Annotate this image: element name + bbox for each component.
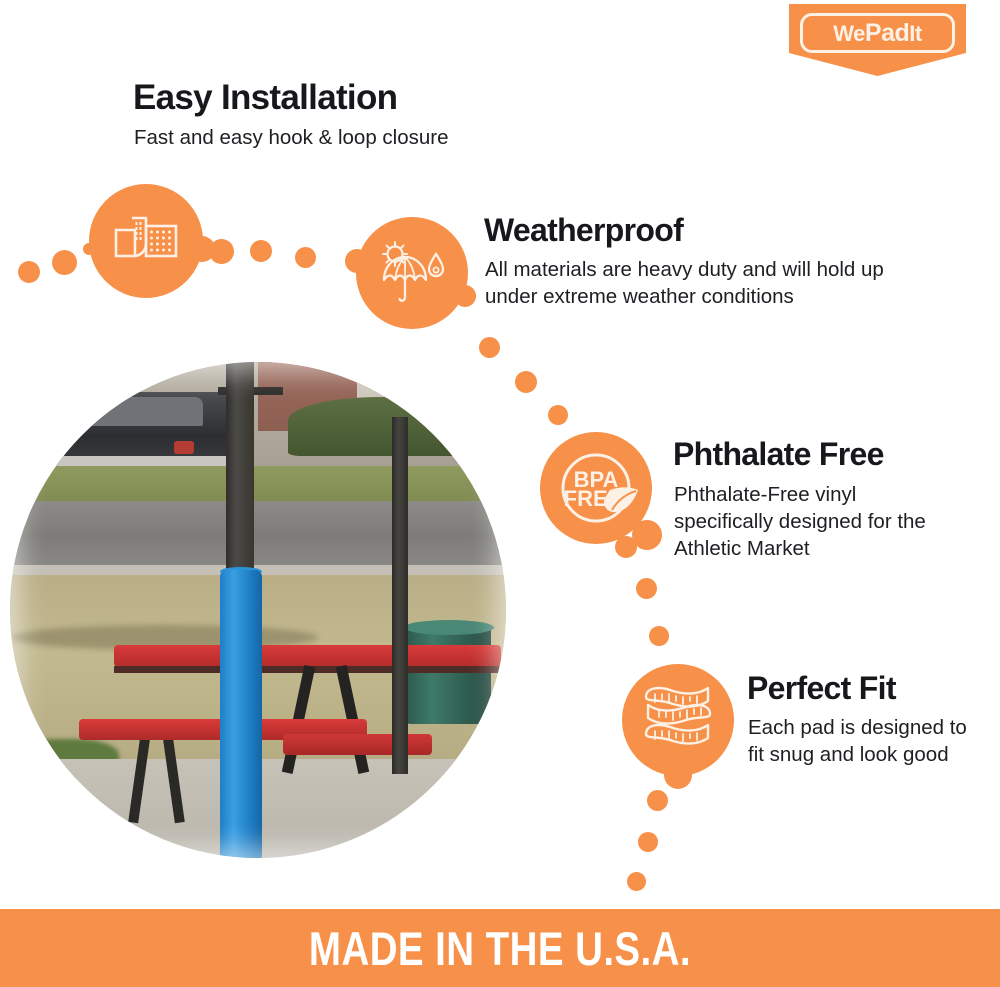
measuring-tape-icon: [622, 664, 734, 776]
feature-body-easy-installation: Fast and easy hook & loop closure: [134, 124, 554, 151]
trail-dot: [479, 337, 500, 358]
decorative-blob: [664, 761, 692, 789]
logo-text-it: It: [909, 21, 921, 46]
feature-body-perfect-fit: Each pad is designed to fit snug and loo…: [748, 714, 976, 768]
infographic-page: WePadIt Easy Installation Fast and easy …: [0, 0, 1000, 987]
sun-umbrella-rain-icon: [356, 217, 468, 329]
trail-dot: [647, 790, 668, 811]
brand-logo: WePadIt: [789, 4, 966, 76]
feature-body-weatherproof: All materials are heavy duty and will ho…: [485, 256, 915, 310]
logo-text: WePadIt: [833, 21, 921, 46]
feature-title-weatherproof: Weatherproof: [484, 214, 683, 248]
decorative-blob: [345, 249, 369, 273]
trail-dot: [515, 371, 537, 393]
trail-dot: [627, 872, 646, 891]
made-in-usa-band: MADE IN THE U.S.A.: [0, 909, 1000, 987]
feature-body-phthalate-free: Phthalate-Free vinyl specifically design…: [674, 481, 939, 562]
logo-text-we: We: [833, 21, 865, 46]
product-photo: [10, 362, 506, 858]
decorative-blob: [632, 520, 662, 550]
trail-dot: [52, 250, 77, 275]
feature-title-perfect-fit: Perfect Fit: [747, 672, 896, 706]
logo-outline-box: WePadIt: [800, 13, 955, 53]
photo-vignette: [10, 362, 506, 858]
logo-text-pad: Pad: [865, 19, 909, 47]
trail-dot: [18, 261, 40, 283]
hook-and-loop-icon: [89, 184, 203, 298]
trail-dot: [548, 405, 568, 425]
decorative-blob: [189, 236, 215, 262]
trail-dot: [636, 578, 657, 599]
feature-title-easy-installation: Easy Installation: [133, 80, 397, 117]
bpa-free-leaf-icon: BPA FREE: [540, 432, 652, 544]
feature-title-phthalate-free: Phthalate Free: [673, 438, 884, 472]
trail-dot: [250, 240, 272, 262]
decorative-blob: [454, 285, 476, 307]
trail-dot: [649, 626, 669, 646]
trail-dot: [295, 247, 316, 268]
trail-dot: [638, 832, 658, 852]
made-in-usa-text: MADE IN THE U.S.A.: [309, 921, 691, 976]
